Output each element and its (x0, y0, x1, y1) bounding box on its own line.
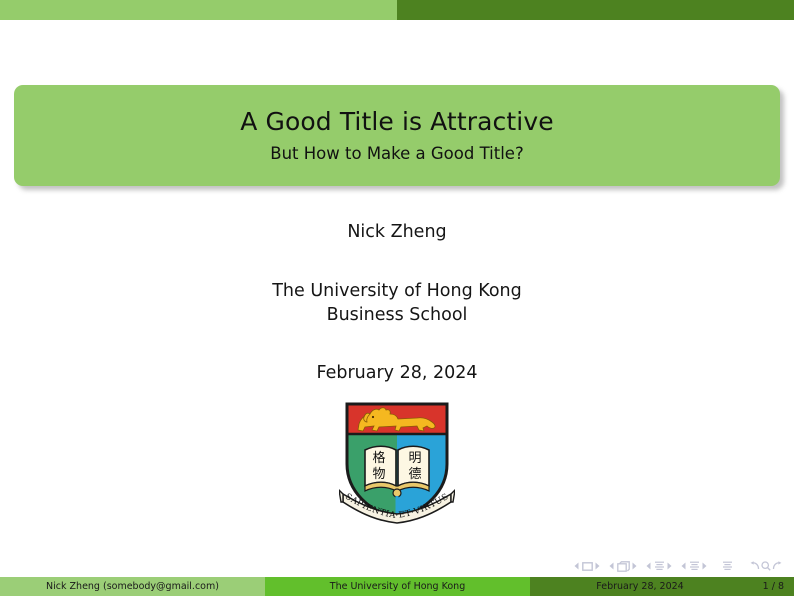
nav-slide-prev-icon[interactable] (574, 562, 579, 570)
header-bar-left-segment (0, 0, 397, 20)
header-bar (0, 0, 794, 20)
author-name: Nick Zheng (0, 222, 794, 242)
nav-section-icon[interactable] (689, 561, 700, 572)
footer-date: February 28, 2024 (530, 581, 750, 592)
institute-line-2: Business School (0, 303, 794, 327)
title-block: A Good Title is Attractive But How to Ma… (14, 85, 780, 186)
nav-back-icon[interactable] (750, 561, 760, 571)
nav-subsection-next-icon[interactable] (667, 562, 672, 570)
nav-document-icon[interactable] (722, 561, 733, 572)
crest-char-1: 格 (372, 450, 385, 466)
nav-forward-icon[interactable] (772, 561, 782, 571)
nav-section-prev-icon[interactable] (681, 562, 686, 570)
crest-char-3: 物 (372, 467, 385, 482)
nav-subsection-prev-icon[interactable] (646, 562, 651, 570)
nav-slide-icon[interactable] (582, 562, 593, 571)
footer-date-page-segment: February 28, 2024 1 / 8 (530, 577, 794, 596)
nav-search-icon[interactable] (761, 561, 771, 571)
footer-author-segment: Nick Zheng (somebody@gmail.com) (0, 577, 265, 596)
nav-section-group[interactable] (681, 561, 707, 572)
title-box: A Good Title is Attractive But How to Ma… (14, 85, 780, 186)
nav-frame-group[interactable] (609, 561, 637, 572)
nav-frame-prev-icon[interactable] (609, 562, 614, 570)
nav-section-next-icon[interactable] (702, 562, 707, 570)
beamer-navigation-symbols[interactable] (574, 559, 782, 573)
nav-frame-next-icon[interactable] (632, 562, 637, 570)
nav-slide-group[interactable] (574, 562, 600, 571)
crest-char-2: 明 (408, 451, 421, 466)
page-subtitle: But How to Make a Good Title? (270, 145, 523, 163)
institute: The University of Hong Kong Business Sch… (0, 279, 794, 327)
header-bar-right-segment (397, 0, 794, 20)
page-title: A Good Title is Attractive (240, 108, 553, 136)
nav-slide-next-icon[interactable] (595, 562, 600, 570)
nav-frame-icon[interactable] (617, 561, 630, 572)
hku-crest-logo: 格 明 物 德 SAPIENTIA·ET·VIRTUS (339, 398, 455, 524)
presentation-date: February 28, 2024 (0, 363, 794, 383)
nav-history-group[interactable] (750, 561, 782, 571)
nav-subsection-icon[interactable] (654, 561, 665, 572)
title-metadata: Nick Zheng The University of Hong Kong B… (0, 222, 794, 384)
footer-bar: Nick Zheng (somebody@gmail.com) The Univ… (0, 577, 794, 596)
institute-line-1: The University of Hong Kong (0, 279, 794, 303)
nav-subsection-group[interactable] (646, 561, 672, 572)
footer-page-number: 1 / 8 (763, 581, 784, 592)
crest-char-4: 德 (408, 467, 421, 482)
footer-institute-segment: The University of Hong Kong (265, 577, 530, 596)
